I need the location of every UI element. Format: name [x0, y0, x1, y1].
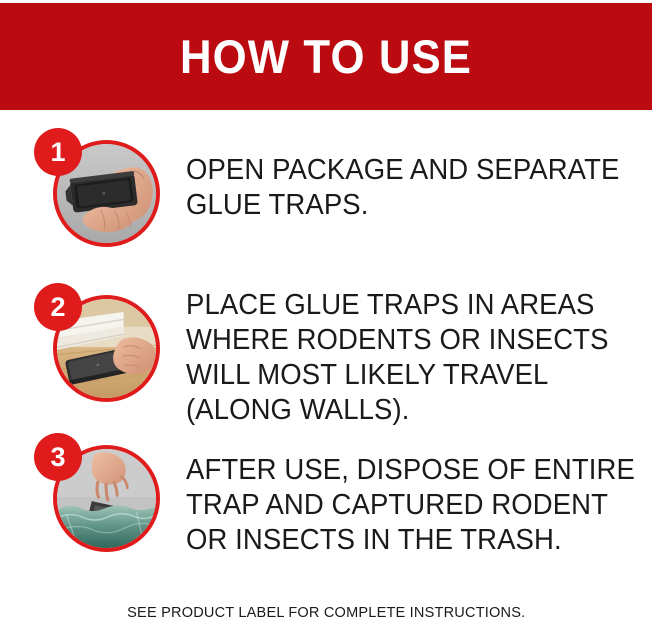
step-number-badge-2: 2	[35, 284, 81, 330]
step-2-line-2: WHERE RODENTS OR INSECTS	[186, 323, 620, 358]
step-2-figure: 2	[33, 284, 160, 411]
step-item-2: 2 PLACE GLUE TRAPS IN AREAS WHERE RODENT…	[0, 284, 652, 434]
step-3-figure: 3	[33, 434, 160, 561]
step-3-line-2: TRAP AND CAPTURED RODENT	[186, 488, 620, 523]
step-1-line-2: GLUE TRAPS.	[186, 188, 620, 223]
page-title: HOW TO USE	[180, 33, 472, 80]
step-1-figure: 1	[33, 129, 160, 256]
step-2-line-1: PLACE GLUE TRAPS IN AREAS	[186, 288, 620, 323]
step-1-line-1: OPEN PACKAGE AND SEPARATE	[186, 153, 620, 188]
step-3-text: AFTER USE, DISPOSE OF ENTIRE TRAP AND CA…	[186, 453, 620, 558]
step-item-3: 3 AFTER USE, DISPOSE OF ENTIRE TRAP AND …	[0, 434, 652, 589]
footer-note: SEE PRODUCT LABEL FOR COMPLETE INSTRUCTI…	[0, 604, 652, 622]
step-item-1: 1 OPEN PACKAGE AND SEPARATE GLUE TRAPS.	[0, 129, 652, 279]
step-1-text: OPEN PACKAGE AND SEPARATE GLUE TRAPS.	[186, 153, 620, 223]
header-banner: HOW TO USE	[0, 3, 652, 110]
step-number-badge-1: 1	[35, 129, 81, 175]
step-3-line-3: OR INSECTS IN THE TRASH.	[186, 523, 620, 558]
step-2-line-3: WILL MOST LIKELY TRAVEL	[186, 358, 620, 393]
step-number-badge-3: 3	[35, 434, 81, 480]
footer-note-text: SEE PRODUCT LABEL FOR COMPLETE INSTRUCTI…	[127, 604, 525, 622]
step-2-text: PLACE GLUE TRAPS IN AREAS WHERE RODENTS …	[186, 288, 620, 428]
step-3-line-1: AFTER USE, DISPOSE OF ENTIRE	[186, 453, 620, 488]
step-2-line-4: (ALONG WALLS).	[186, 393, 620, 428]
how-to-use-infographic: HOW TO USE	[0, 0, 652, 633]
